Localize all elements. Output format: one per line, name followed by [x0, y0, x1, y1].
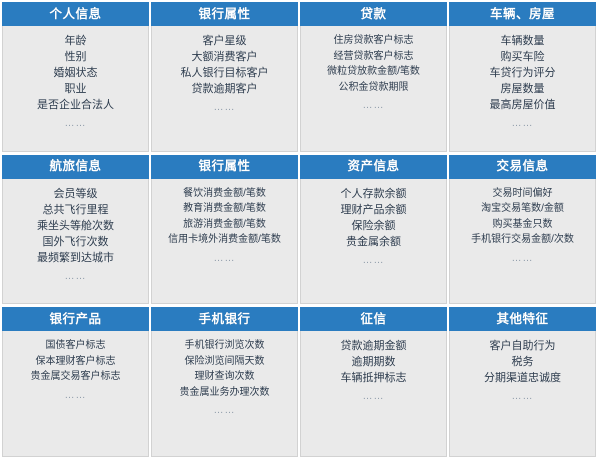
feature-item: 理财产品余额 [341, 202, 407, 218]
feature-item: 贷款逾期客户 [192, 81, 258, 97]
feature-card: 银行属性客户星级大额消费客户私人银行目标客户贷款逾期客户…… [151, 2, 298, 152]
feature-item: 贵金属余额 [346, 234, 401, 250]
feature-item: 经营贷款客户标志 [334, 49, 414, 65]
feature-card-body: 住房贷款客户标志经营贷款客户标志微粒贷放款金额/笔数公积金贷款期限…… [300, 26, 447, 152]
feature-card-body: 客户星级大额消费客户私人银行目标客户贷款逾期客户…… [151, 26, 298, 152]
feature-item: 淘宝交易笔数/金额 [481, 201, 564, 217]
feature-category-grid: 个人信息年龄性别婚姻状态职业是否企业合法人……银行属性客户星级大额消费客户私人银… [0, 0, 600, 460]
feature-item: 个人存款余额 [341, 186, 407, 202]
feature-card-title: 车辆、房屋 [449, 2, 596, 26]
feature-card: 银行产品国债客户标志保本理财客户标志贵金属交易客户标志…… [2, 307, 149, 457]
feature-card-body: 客户自助行为税务分期渠道忠诚度…… [449, 331, 596, 457]
feature-card-body: 贷款逾期金额逾期期数车辆抵押标志…… [300, 331, 447, 457]
feature-card-title: 贷款 [300, 2, 447, 26]
feature-item: 国债客户标志 [46, 338, 106, 354]
feature-item: 手机银行交易金额/次数 [471, 232, 574, 248]
feature-card-title: 银行属性 [151, 155, 298, 179]
feature-item: 车贷行为评分 [490, 65, 556, 81]
feature-item: 会员等级 [54, 186, 98, 202]
feature-card: 车辆、房屋车辆数量购买车险车贷行为评分房屋数量最高房屋价值…… [449, 2, 596, 152]
feature-list-ellipsis: …… [363, 98, 385, 114]
feature-item: 总共飞行里程 [43, 202, 109, 218]
feature-list-ellipsis: …… [65, 116, 87, 132]
feature-item: 税务 [512, 354, 534, 370]
feature-item: 职业 [65, 81, 87, 97]
feature-item: 微粒贷放款金额/笔数 [327, 64, 420, 80]
feature-card-body: 个人存款余额理财产品余额保险余额贵金属余额…… [300, 179, 447, 305]
feature-item: 贵金属业务办理次数 [180, 385, 270, 401]
feature-item: 交易时间偏好 [493, 186, 553, 202]
feature-list-ellipsis: …… [512, 251, 534, 267]
feature-item: 乘坐头等舱次数 [37, 218, 114, 234]
feature-card-title: 银行产品 [2, 307, 149, 331]
feature-card: 其他特征客户自助行为税务分期渠道忠诚度…… [449, 307, 596, 457]
feature-card: 个人信息年龄性别婚姻状态职业是否企业合法人…… [2, 2, 149, 152]
feature-item: 房屋数量 [501, 81, 545, 97]
feature-card: 航旅信息会员等级总共飞行里程乘坐头等舱次数国外飞行次数最频繁到达城市…… [2, 155, 149, 305]
feature-list-ellipsis: …… [512, 116, 534, 132]
feature-item: 保险余额 [352, 218, 396, 234]
feature-card-title: 手机银行 [151, 307, 298, 331]
feature-card: 贷款住房贷款客户标志经营贷款客户标志微粒贷放款金额/笔数公积金贷款期限…… [300, 2, 447, 152]
feature-card-body: 国债客户标志保本理财客户标志贵金属交易客户标志…… [2, 331, 149, 457]
feature-card-body: 餐饮消费金额/笔数教育消费金额/笔数旅游消费金额/笔数信用卡境外消费金额/笔数…… [151, 179, 298, 305]
feature-item: 最频繁到达城市 [37, 250, 114, 266]
feature-list-ellipsis: …… [512, 389, 534, 405]
feature-item: 国外飞行次数 [43, 234, 109, 250]
feature-card: 交易信息交易时间偏好淘宝交易笔数/金额购买基金只数手机银行交易金额/次数…… [449, 155, 596, 305]
feature-card-title: 银行属性 [151, 2, 298, 26]
feature-item: 理财查询次数 [195, 369, 255, 385]
feature-list-ellipsis: …… [214, 251, 236, 267]
feature-card-body: 年龄性别婚姻状态职业是否企业合法人…… [2, 26, 149, 152]
feature-item: 车辆抵押标志 [341, 370, 407, 386]
feature-card-title: 个人信息 [2, 2, 149, 26]
feature-item: 客户自助行为 [490, 338, 556, 354]
feature-item: 年龄 [65, 33, 87, 49]
feature-card-title: 资产信息 [300, 155, 447, 179]
feature-item: 保险浏览间隔天数 [185, 354, 265, 370]
feature-item: 贷款逾期金额 [341, 338, 407, 354]
feature-list-ellipsis: …… [363, 389, 385, 405]
feature-list-ellipsis: …… [214, 403, 236, 419]
feature-item: 住房贷款客户标志 [334, 33, 414, 49]
feature-card-title: 征信 [300, 307, 447, 331]
feature-card-body: 交易时间偏好淘宝交易笔数/金额购买基金只数手机银行交易金额/次数…… [449, 179, 596, 305]
feature-item: 分期渠道忠诚度 [484, 370, 561, 386]
feature-item: 最高房屋价值 [490, 97, 556, 113]
feature-card: 手机银行手机银行浏览次数保险浏览间隔天数理财查询次数贵金属业务办理次数…… [151, 307, 298, 457]
feature-item: 贵金属交易客户标志 [31, 369, 121, 385]
feature-item: 婚姻状态 [54, 65, 98, 81]
feature-card-title: 交易信息 [449, 155, 596, 179]
feature-item: 客户星级 [203, 33, 247, 49]
feature-item: 教育消费金额/笔数 [183, 201, 266, 217]
feature-card-body: 车辆数量购买车险车贷行为评分房屋数量最高房屋价值…… [449, 26, 596, 152]
feature-item: 旅游消费金额/笔数 [183, 217, 266, 233]
feature-item: 车辆数量 [501, 33, 545, 49]
feature-card: 征信贷款逾期金额逾期期数车辆抵押标志…… [300, 307, 447, 457]
feature-list-ellipsis: …… [363, 253, 385, 269]
feature-card-title: 航旅信息 [2, 155, 149, 179]
feature-card-body: 会员等级总共飞行里程乘坐头等舱次数国外飞行次数最频繁到达城市…… [2, 179, 149, 305]
feature-card: 资产信息个人存款余额理财产品余额保险余额贵金属余额…… [300, 155, 447, 305]
feature-item: 购买基金只数 [493, 217, 553, 233]
feature-item: 手机银行浏览次数 [185, 338, 265, 354]
feature-card-title: 其他特征 [449, 307, 596, 331]
feature-item: 保本理财客户标志 [36, 354, 116, 370]
feature-list-ellipsis: …… [65, 388, 87, 404]
feature-item: 是否企业合法人 [37, 97, 114, 113]
feature-card-body: 手机银行浏览次数保险浏览间隔天数理财查询次数贵金属业务办理次数…… [151, 331, 298, 457]
feature-item: 餐饮消费金额/笔数 [183, 186, 266, 202]
feature-item: 购买车险 [501, 49, 545, 65]
feature-item: 信用卡境外消费金额/笔数 [168, 232, 281, 248]
feature-item: 公积金贷款期限 [339, 80, 409, 96]
feature-list-ellipsis: …… [214, 100, 236, 116]
feature-item: 逾期期数 [352, 354, 396, 370]
feature-list-ellipsis: …… [65, 269, 87, 285]
feature-item: 性别 [65, 49, 87, 65]
feature-card: 银行属性餐饮消费金额/笔数教育消费金额/笔数旅游消费金额/笔数信用卡境外消费金额… [151, 155, 298, 305]
feature-item: 大额消费客户 [192, 49, 258, 65]
feature-item: 私人银行目标客户 [181, 65, 269, 81]
